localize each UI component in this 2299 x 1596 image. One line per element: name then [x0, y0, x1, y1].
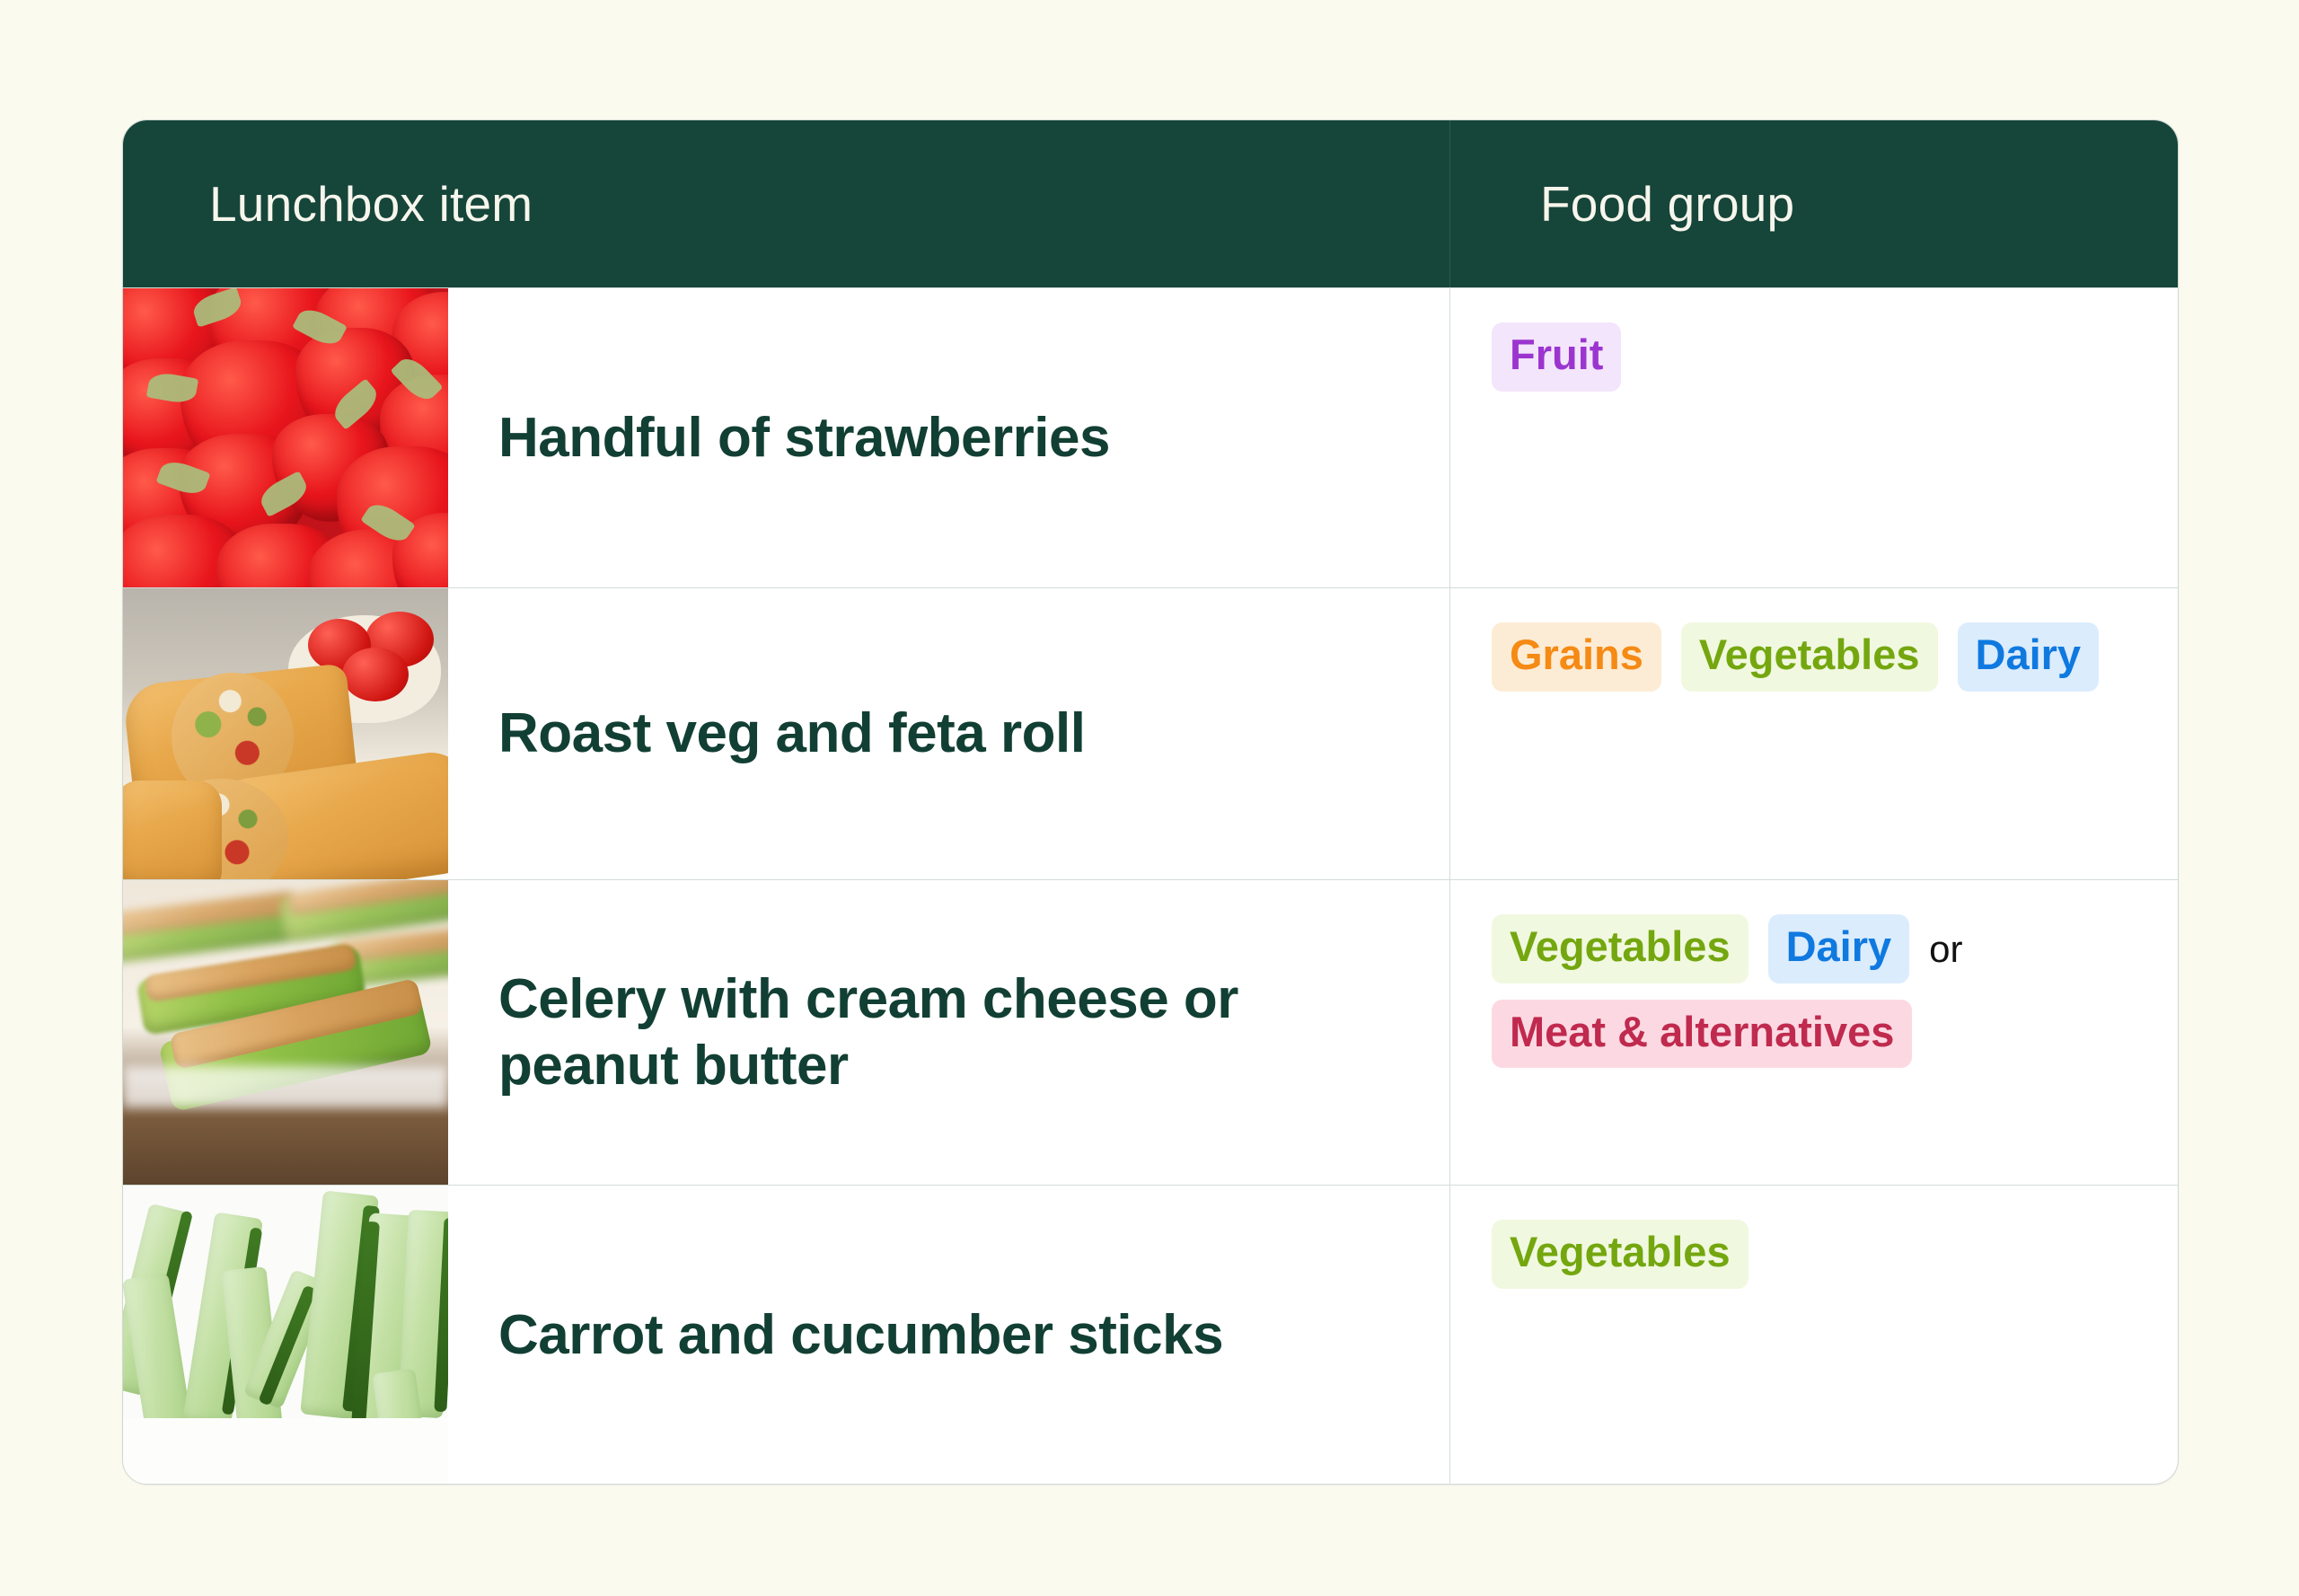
cell-lunchbox-item: Handful of strawberries: [123, 288, 1450, 587]
column-header-label: Food group: [1540, 177, 1794, 232]
lunchbox-item-name: Handful of strawberries: [448, 288, 1449, 587]
table-row: Celery with cream cheese or peanut butte…: [123, 879, 2178, 1185]
celery-artwork: [123, 880, 448, 1185]
cell-food-group: Vegetables: [1450, 1186, 2178, 1485]
celery-peanut-butter-photo: [123, 880, 448, 1185]
food-group-badge-meat-and-alternatives: Meat & alternatives: [1492, 1000, 1912, 1069]
page: Lunchbox item Food group: [0, 0, 2299, 1596]
column-header-label: Lunchbox item: [209, 177, 533, 232]
food-group-badge-vegetables: Vegetables: [1492, 1220, 1748, 1289]
lunchbox-item-name: Carrot and cucumber sticks: [448, 1186, 1449, 1485]
food-group-badge-dairy: Dairy: [1768, 914, 1910, 983]
food-group-badge-fruit: Fruit: [1492, 322, 1621, 392]
food-group-badge-grains: Grains: [1492, 622, 1661, 692]
food-group-badges: Grains Vegetables Dairy: [1492, 622, 2099, 692]
roast-veg-feta-roll-photo: [123, 588, 448, 879]
cell-lunchbox-item: Roast veg and feta roll: [123, 588, 1450, 879]
strawberries-artwork: [123, 288, 448, 587]
table-row: Handful of strawberries Fruit: [123, 287, 2178, 587]
strawberries-photo: [123, 288, 448, 587]
food-group-badges: Fruit: [1492, 322, 1621, 392]
lunchbox-item-name: Roast veg and feta roll: [448, 588, 1449, 879]
cell-lunchbox-item: Celery with cream cheese or peanut butte…: [123, 880, 1450, 1185]
food-group-badge-vegetables: Vegetables: [1681, 622, 1938, 692]
food-group-badge-vegetables: Vegetables: [1492, 914, 1748, 983]
food-group-badges: Vegetables Dairy or Meat & alternatives: [1492, 914, 2142, 1068]
cucumber-artwork: [123, 1186, 448, 1485]
roll-artwork: [123, 588, 448, 879]
cell-food-group: Fruit: [1450, 288, 2178, 587]
food-group-conjunction-or: or: [1929, 928, 1962, 970]
lunchbox-item-name: Celery with cream cheese or peanut butte…: [448, 880, 1449, 1185]
column-header-food-group: Food group: [1450, 120, 2178, 287]
cell-food-group: Vegetables Dairy or Meat & alternatives: [1450, 880, 2178, 1185]
food-group-badge-dairy: Dairy: [1958, 622, 2100, 692]
column-header-lunchbox-item: Lunchbox item: [123, 120, 1450, 287]
lunchbox-food-group-table: Lunchbox item Food group: [122, 119, 2179, 1485]
table-row: Roast veg and feta roll Grains Vegetable…: [123, 587, 2178, 879]
cell-lunchbox-item: Carrot and cucumber sticks: [123, 1186, 1450, 1485]
table-header-row: Lunchbox item Food group: [123, 120, 2178, 287]
cucumber-sticks-photo: [123, 1186, 448, 1485]
table-row: Carrot and cucumber sticks Vegetables: [123, 1185, 2178, 1485]
food-group-badges: Vegetables: [1492, 1220, 1748, 1289]
cell-food-group: Grains Vegetables Dairy: [1450, 588, 2178, 879]
